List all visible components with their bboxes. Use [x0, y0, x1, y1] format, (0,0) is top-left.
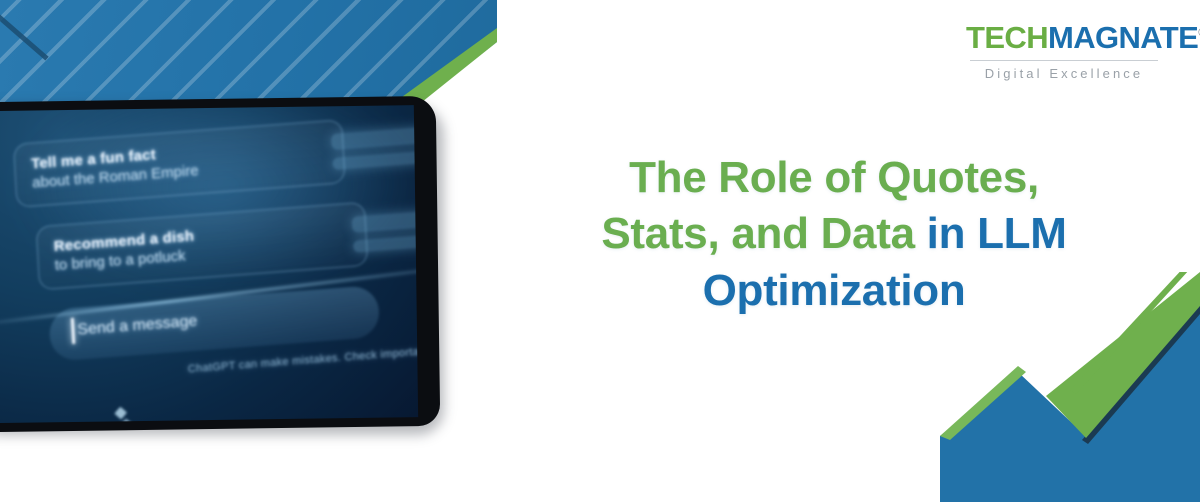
- device-screen: Tell me a fun fact about the Roman Empir…: [0, 105, 418, 423]
- suggestion-card: Tell me a fun fact about the Roman Empir…: [13, 119, 346, 208]
- logo: TECHMAGNATE® Digital Excellence: [966, 22, 1162, 81]
- suggestion-card: Recommend a dish to bring to a potluck: [36, 202, 369, 291]
- text-caret: [71, 318, 75, 344]
- headline-line-1: The Role of Quotes,: [629, 153, 1039, 202]
- suggestion-card-placeholder-bar: [332, 151, 418, 170]
- suggestion-card-placeholder-bar: [331, 125, 418, 150]
- device-photo: Tell me a fun fact about the Roman Empir…: [0, 99, 438, 429]
- diamond-icon: [114, 406, 128, 420]
- top-left-decoration: [0, 0, 500, 110]
- diamond-icon: [120, 418, 132, 423]
- logo-divider: [970, 60, 1158, 61]
- headline-line-2-green: Stats, and Data: [601, 209, 914, 258]
- bottom-right-decoration: [940, 272, 1200, 502]
- headline-line-2-blue: in LLM: [915, 209, 1067, 258]
- banner-root: Tell me a fun fact about the Roman Empir…: [0, 0, 1200, 502]
- headline-line-3: Optimization: [703, 266, 966, 315]
- logo-wordmark: TECHMAGNATE®: [966, 22, 1162, 53]
- device-bezel: Tell me a fun fact about the Roman Empir…: [0, 96, 440, 432]
- logo-word-tech: TECH: [966, 20, 1048, 55]
- chat-ui-mock: Tell me a fun fact about the Roman Empir…: [0, 105, 418, 423]
- logo-word-magnate: MAGNATE: [1048, 20, 1198, 55]
- logo-tagline: Digital Excellence: [966, 66, 1162, 81]
